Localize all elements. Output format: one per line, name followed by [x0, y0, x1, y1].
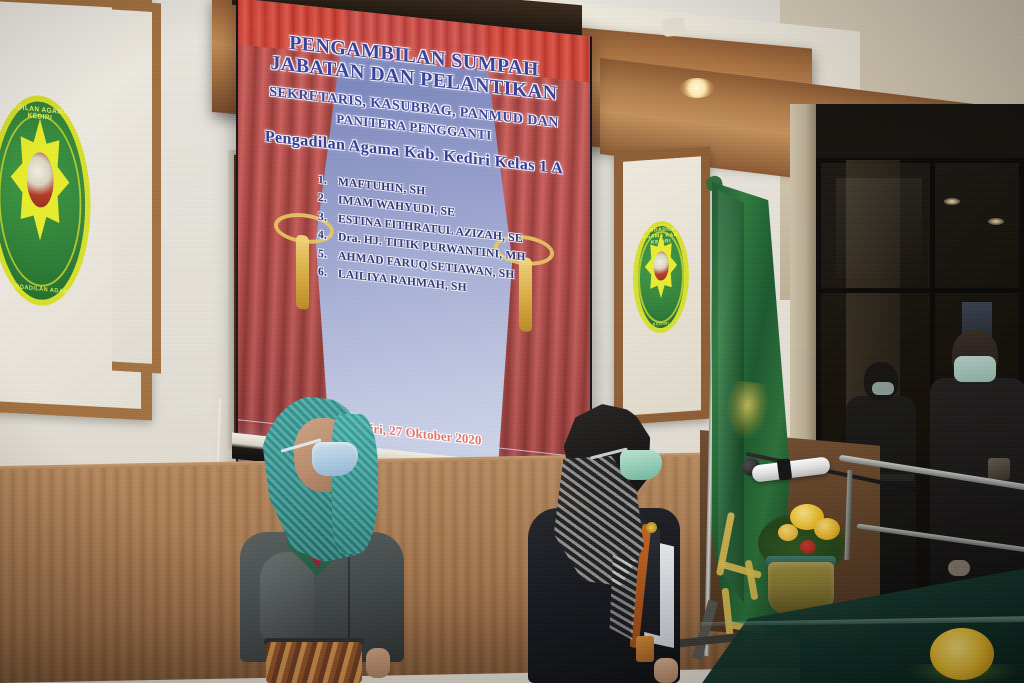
list-item-number: 3. — [318, 211, 338, 225]
court-seal-icon: PENGADILAN AGAMA KAB. KEDIRI KEDIRI — [633, 219, 689, 335]
list-item-name: MAFTUHIN, SH — [338, 176, 425, 197]
face-mask-icon — [954, 356, 996, 382]
interior-light-icon — [988, 218, 1004, 225]
face-mask-icon — [872, 382, 894, 395]
downlight-icon — [680, 78, 714, 98]
flower-icon — [800, 540, 816, 554]
list-item-number: 2. — [318, 192, 338, 206]
flag-emblem-icon — [723, 380, 771, 442]
face-mask-icon — [620, 450, 662, 480]
court-seal-icon: PENGADILAN AGAMA KAB. KEDIRI PENGADILAN … — [0, 90, 91, 311]
list-item-number: 6. — [318, 266, 338, 280]
brooch-icon — [646, 522, 657, 533]
uniform-badge — [988, 458, 1010, 480]
wall-frame-right: PENGADILAN AGAMA KAB. KEDIRI KEDIRI — [614, 147, 710, 426]
list-item-number: 4. — [318, 229, 338, 243]
mic-clip — [777, 458, 792, 480]
list-item-number: 1. — [318, 174, 338, 188]
wall-frame-left-secondary — [112, 1, 161, 374]
flower-icon — [814, 518, 840, 540]
person-woman-front — [236, 392, 408, 683]
list-item-number: 5. — [318, 248, 338, 262]
flower-icon — [778, 524, 798, 541]
person-woman-back — [528, 404, 694, 683]
ceiling-fitting — [662, 17, 686, 37]
interior-light-icon — [944, 198, 960, 205]
flower-icon — [930, 628, 994, 680]
glass-reflection — [836, 178, 922, 278]
photo-scene: PENGADILAN AGAMA KAB. KEDIRI PENGADILAN … — [0, 0, 1024, 683]
door-mullion-horizontal — [816, 288, 1024, 293]
id-badge — [636, 636, 654, 662]
batik-skirt — [266, 642, 362, 683]
slide-name-list: 1.MAFTUHIN, SH 2.IMAM WAHYUDI, SE 3.ESTI… — [318, 174, 564, 305]
